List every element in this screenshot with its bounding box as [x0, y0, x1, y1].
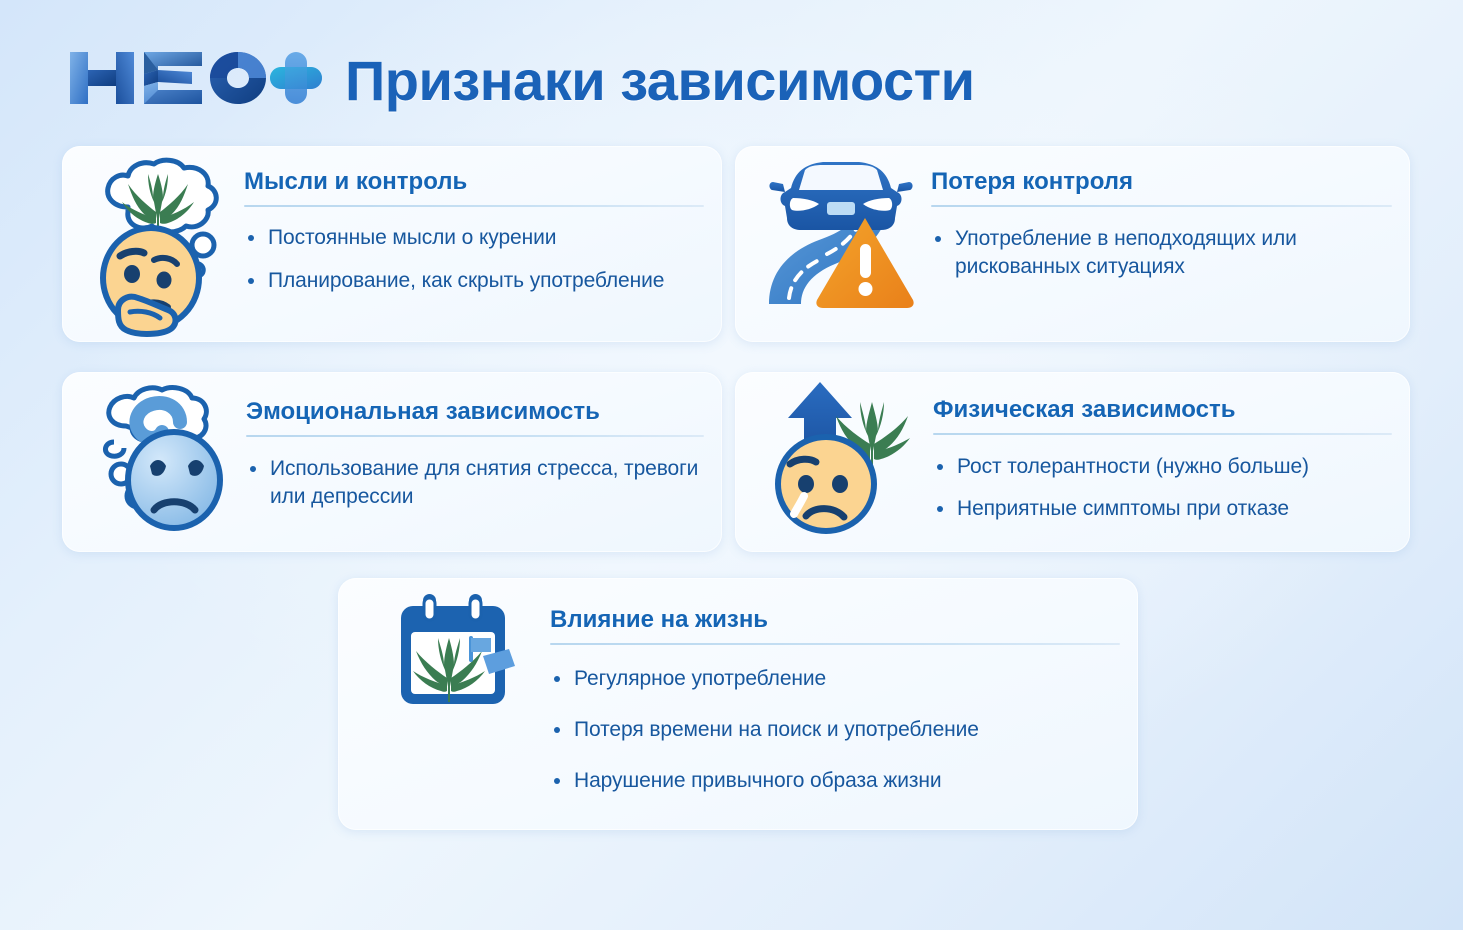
- card-heading: Физическая зависимость: [933, 396, 1392, 424]
- card-heading: Эмоциональная зависимость: [246, 398, 704, 426]
- calendar-with-cannabis-leaf-icon: [338, 578, 550, 709]
- page-title: Признаки зависимости: [345, 40, 1105, 120]
- card-loss-of-control: Потеря контроля Употребление в неподходя…: [735, 146, 1410, 342]
- card-body: Мысли и контроль Постоянные мысли о куре…: [244, 146, 722, 295]
- list-item: Планирование, как скрыть употребление: [244, 267, 704, 295]
- bullet-list: Регулярное употребление Потеря времени н…: [550, 665, 1120, 795]
- list-item: Рост толерантности (нужно больше): [933, 453, 1392, 481]
- heading-divider: [550, 643, 1120, 645]
- neo-plus-logo: [62, 42, 292, 114]
- list-item: Нарушение привычного образа жизни: [550, 767, 1120, 795]
- card-physical-dependence: Физическая зависимость Рост толерантност…: [735, 372, 1410, 552]
- card-thoughts-and-control: Мысли и контроль Постоянные мысли о куре…: [62, 146, 722, 342]
- list-item: Регулярное употребление: [550, 665, 1120, 693]
- list-item: Неприятные симптомы при отказе: [933, 495, 1392, 523]
- heading-divider: [246, 435, 704, 437]
- thinking-face-with-cannabis-thought-bubble-icon: [62, 146, 244, 335]
- bullet-list: Рост толерантности (нужно больше) Неприя…: [933, 453, 1392, 523]
- page-header: Признаки зависимости: [0, 0, 1463, 140]
- heading-divider: [244, 205, 704, 207]
- card-body: Потеря контроля Употребление в неподходя…: [931, 146, 1410, 281]
- card-body: Физическая зависимость Рост толерантност…: [933, 372, 1410, 523]
- car-on-road-with-warning-triangle-icon: [735, 146, 931, 311]
- sweating-face-with-up-arrow-and-cannabis-leaf-icon: [735, 372, 933, 535]
- bullet-list: Постоянные мысли о курении Планирование,…: [244, 224, 704, 295]
- heading-divider: [931, 205, 1392, 207]
- infographic-page: Признаки зависимости: [0, 0, 1463, 930]
- list-item: Употребление в неподходящих или рискован…: [931, 225, 1392, 281]
- list-item: Использование для снятия стресса, тревог…: [246, 455, 704, 511]
- card-impact-on-life: Влияние на жизнь Регулярное употребление…: [338, 578, 1138, 830]
- heading-divider: [933, 433, 1392, 435]
- list-item: Потеря времени на поиск и употребление: [550, 716, 1120, 744]
- list-item: Постоянные мысли о курении: [244, 224, 704, 252]
- card-body: Влияние на жизнь Регулярное употребление…: [550, 578, 1138, 795]
- card-heading: Влияние на жизнь: [550, 606, 1120, 634]
- bullet-list: Употребление в неподходящих или рискован…: [931, 225, 1392, 281]
- card-emotional-dependence: Эмоциональная зависимость Использование …: [62, 372, 722, 552]
- card-body: Эмоциональная зависимость Использование …: [246, 372, 722, 511]
- sad-blue-face-with-thought-cloud-icon: [62, 372, 246, 531]
- card-heading: Потеря контроля: [931, 168, 1392, 196]
- bullet-list: Использование для снятия стресса, тревог…: [246, 455, 704, 511]
- card-heading: Мысли и контроль: [244, 168, 704, 196]
